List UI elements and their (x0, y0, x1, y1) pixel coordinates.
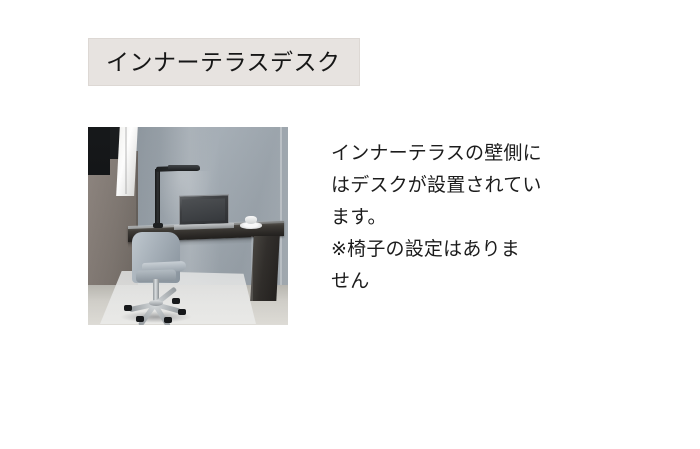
desk-side-panel-edge (251, 236, 253, 301)
description-block: インナーテラスの壁側に はデスクが設置されてい ます。 ※椅子の設定はありま せ… (331, 138, 581, 298)
interior-photo (88, 127, 288, 325)
chair-caster (172, 298, 180, 304)
chair-caster (164, 317, 172, 323)
section-title-banner: インナーテラスデスク (88, 38, 360, 86)
chair-caster (124, 305, 132, 311)
desk-lamp-stem (155, 169, 160, 228)
description-line-3: ます。 (331, 202, 581, 234)
curtain-fold-line (125, 127, 127, 194)
dark-window-opening-inner (88, 127, 110, 175)
wall-corner-edge (280, 127, 282, 289)
desk-lamp-head (168, 165, 200, 172)
white-curtain (116, 127, 138, 196)
desk-lamp-base (153, 223, 163, 228)
laptop-display-panel (182, 198, 225, 221)
description-line-2: はデスクが設置されてい (331, 170, 581, 202)
description-line-1: インナーテラスの壁側に (331, 138, 581, 170)
photo-scene (88, 127, 288, 325)
desk-side-panel (250, 236, 279, 301)
description-line-4: ※椅子の設定はありま (331, 234, 581, 266)
chair-caster (178, 309, 186, 315)
page-title: インナーテラスデスク (89, 51, 341, 74)
description-line-5: せん (331, 266, 581, 298)
chair-caster (136, 316, 144, 322)
